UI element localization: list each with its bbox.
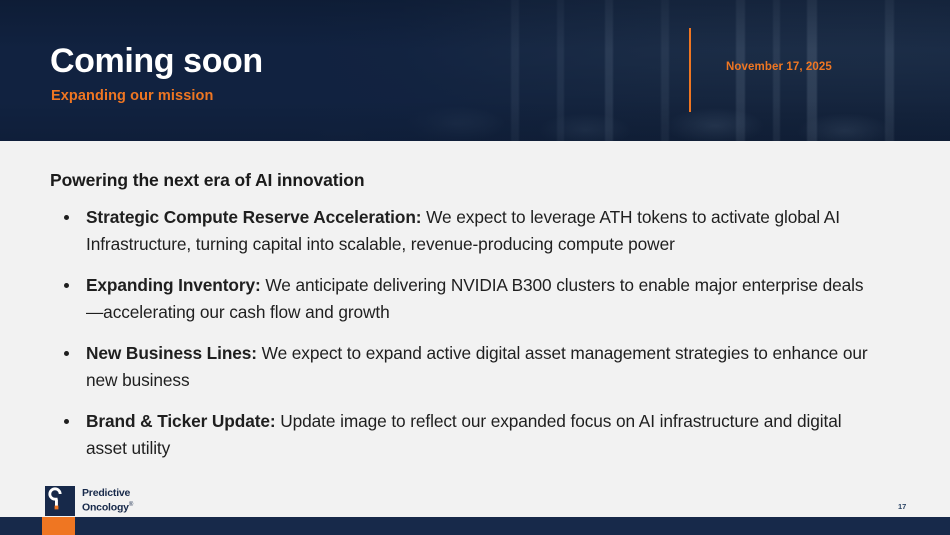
bullet-lead: Strategic Compute Reserve Acceleration: xyxy=(86,207,421,227)
bullet-lead: New Business Lines: xyxy=(86,343,257,363)
slide-header: Coming soon Expanding our mission Novemb… xyxy=(0,0,950,141)
company-logo-text: Predictive Oncology® xyxy=(82,488,133,514)
slide: Coming soon Expanding our mission Novemb… xyxy=(0,0,950,535)
bullet-dot-icon xyxy=(64,215,69,220)
bullet-dot-icon xyxy=(64,419,69,424)
company-logo: Predictive Oncology® xyxy=(45,486,133,516)
predictive-oncology-logo-icon xyxy=(45,486,75,516)
logo-line-2: Oncology xyxy=(82,501,129,513)
slide-subtitle: Expanding our mission xyxy=(51,89,213,104)
bullet-lead: Brand & Ticker Update: xyxy=(86,411,276,431)
bottom-bar-accent xyxy=(42,517,75,535)
bullet-dot-icon xyxy=(64,283,69,288)
bullet-lead: Expanding Inventory: xyxy=(86,275,261,295)
list-item: Strategic Compute Reserve Acceleration: … xyxy=(50,204,880,258)
list-item: New Business Lines: We expect to expand … xyxy=(50,340,880,394)
slide-footer: Predictive Oncology® 17 xyxy=(0,478,950,517)
bullet-dot-icon xyxy=(64,351,69,356)
slide-body: Powering the next era of AI innovation S… xyxy=(0,141,950,478)
header-divider xyxy=(689,28,691,112)
page-number: 17 xyxy=(898,503,906,511)
slide-date: November 17, 2025 xyxy=(726,62,832,74)
bottom-bar xyxy=(0,517,950,535)
list-item: Brand & Ticker Update: Update image to r… xyxy=(50,408,880,462)
logo-trademark: ® xyxy=(129,502,133,508)
bullet-list: Strategic Compute Reserve Acceleration: … xyxy=(50,204,880,476)
list-item: Expanding Inventory: We anticipate deliv… xyxy=(50,272,880,326)
logo-line-1: Predictive xyxy=(82,487,130,499)
slide-title: Coming soon xyxy=(50,44,263,78)
section-heading: Powering the next era of AI innovation xyxy=(50,172,364,190)
